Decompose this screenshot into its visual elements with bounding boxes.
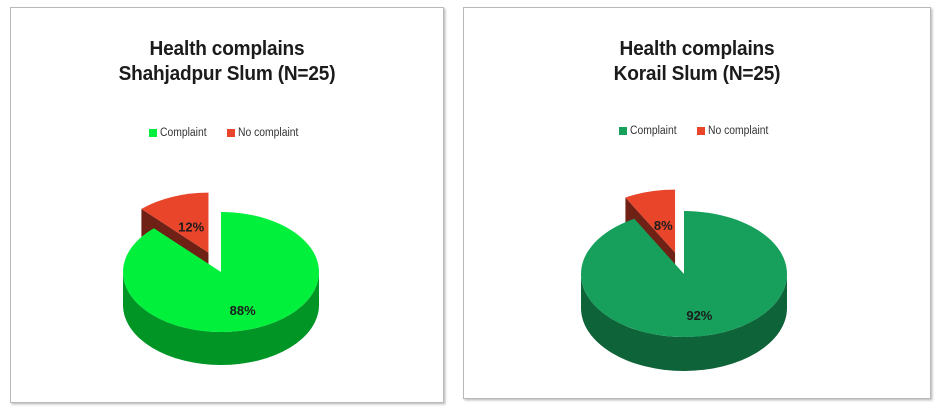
pie-chart-korail[interactable]: 92%8% [524, 176, 874, 381]
pie-slice-complaint[interactable] [581, 211, 787, 337]
chart-legend-shahjadpur: Complaint No complaint [11, 127, 443, 139]
legend-label-complaint: Complaint [160, 127, 207, 139]
legend-swatch-no-complaint-icon [227, 129, 235, 137]
chart-title-shahjadpur: Health complains Shahjadpur Slum (N=25) [26, 36, 428, 86]
pie-value-label-no-complaint: 12% [178, 219, 204, 234]
chart-legend-korail: Complaint No complaint [464, 125, 930, 137]
pie-chart-svg-shahjadpur: 88%12% [66, 176, 396, 376]
chart-title-line-1: Health complains [480, 36, 913, 61]
pie-value-label-no-complaint: 8% [654, 218, 673, 233]
pie-value-label-complaint: 88% [230, 303, 256, 318]
chart-title-line-1: Health complains [26, 36, 428, 61]
legend-label-complaint: Complaint [630, 125, 677, 137]
legend-label-no-complaint: No complaint [238, 127, 298, 139]
legend-label-no-complaint: No complaint [708, 125, 768, 137]
pie-chart-svg-korail: 92%8% [524, 176, 874, 381]
chart-panel-shahjadpur: Health complains Shahjadpur Slum (N=25) … [10, 7, 444, 403]
pie-slice-complaint[interactable] [123, 212, 319, 332]
legend-swatch-complaint-icon [149, 129, 157, 137]
legend-item-complaint[interactable]: Complaint [619, 125, 682, 137]
pie-chart-shahjadpur[interactable]: 88%12% [66, 176, 396, 376]
chart-panel-korail: Health complains Korail Slum (N=25) Comp… [463, 7, 931, 399]
chart-title-line-2: Shahjadpur Slum (N=25) [26, 61, 428, 86]
legend-swatch-complaint-icon [619, 127, 627, 135]
figure-container: Health complains Shahjadpur Slum (N=25) … [0, 0, 940, 410]
chart-title-line-2: Korail Slum (N=25) [480, 61, 913, 86]
legend-swatch-no-complaint-icon [697, 127, 705, 135]
pie-value-label-complaint: 92% [686, 308, 712, 323]
legend-item-no-complaint[interactable]: No complaint [227, 127, 305, 139]
legend-item-complaint[interactable]: Complaint [149, 127, 212, 139]
legend-item-no-complaint[interactable]: No complaint [697, 125, 775, 137]
chart-title-korail: Health complains Korail Slum (N=25) [480, 36, 913, 86]
